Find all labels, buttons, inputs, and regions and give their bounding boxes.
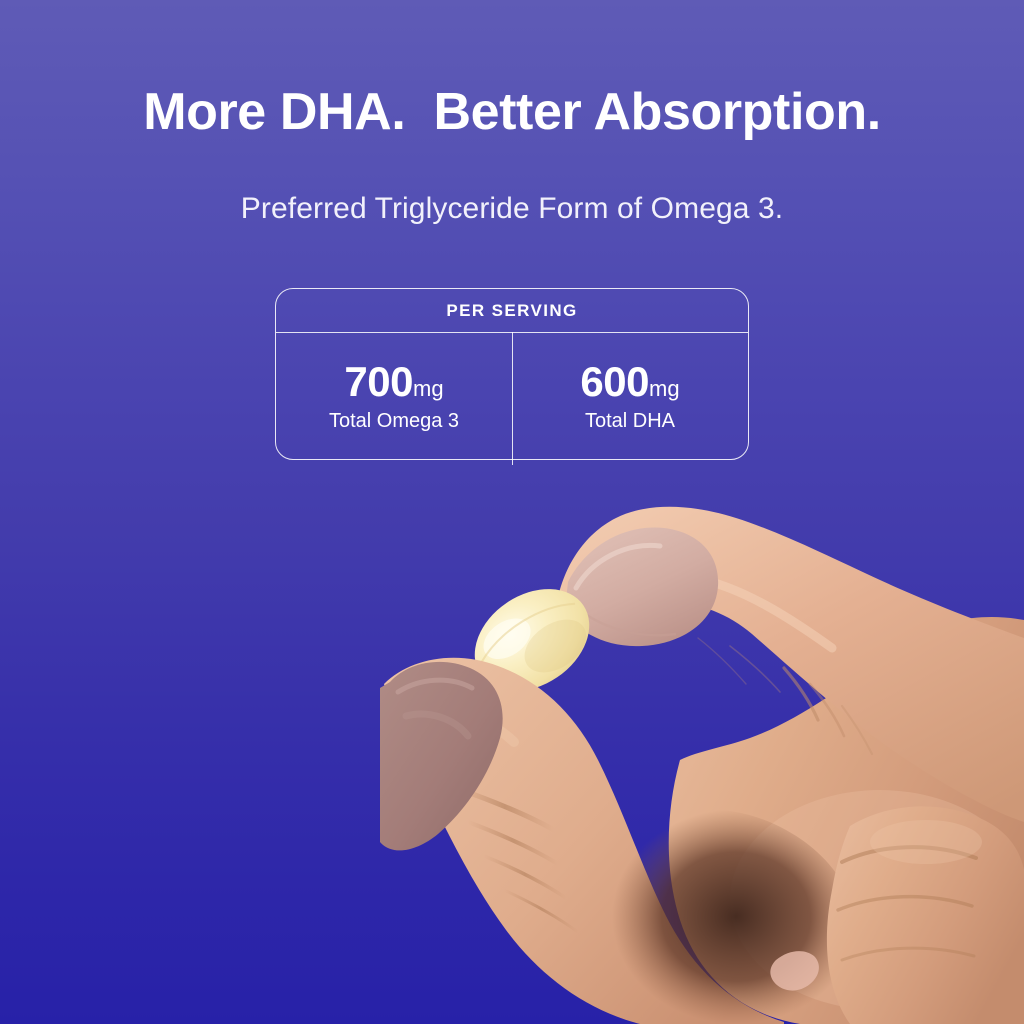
- hand-holding-capsule-photo: [380, 470, 1024, 1024]
- dha-value: 600: [580, 361, 649, 403]
- page-title: More DHA. Better Absorption.: [0, 84, 1024, 140]
- spec-cell-dha: 600 mg Total DHA: [512, 332, 748, 461]
- product-marketing-banner: More DHA. Better Absorption. Preferred T…: [0, 0, 1024, 1024]
- omega3-label: Total Omega 3: [329, 410, 459, 433]
- omega3-value: 700: [344, 361, 413, 403]
- spec-cell-container: 700 mg Total Omega 3 600 mg Total DHA: [276, 332, 748, 461]
- dha-amount: 600 mg: [580, 361, 679, 403]
- per-serving-spec-box: PER SERVING 700 mg Total Omega 3 600 mg …: [275, 288, 749, 460]
- dha-label: Total DHA: [585, 410, 675, 433]
- spec-cell-omega3: 700 mg Total Omega 3: [276, 332, 512, 461]
- omega3-unit: mg: [413, 378, 444, 400]
- page-subtitle: Preferred Triglyceride Form of Omega 3.: [0, 192, 1024, 226]
- folded-fingers: [827, 806, 1024, 1024]
- dha-unit: mg: [649, 378, 680, 400]
- omega3-amount: 700 mg: [344, 361, 443, 403]
- spec-box-header: PER SERVING: [276, 289, 748, 332]
